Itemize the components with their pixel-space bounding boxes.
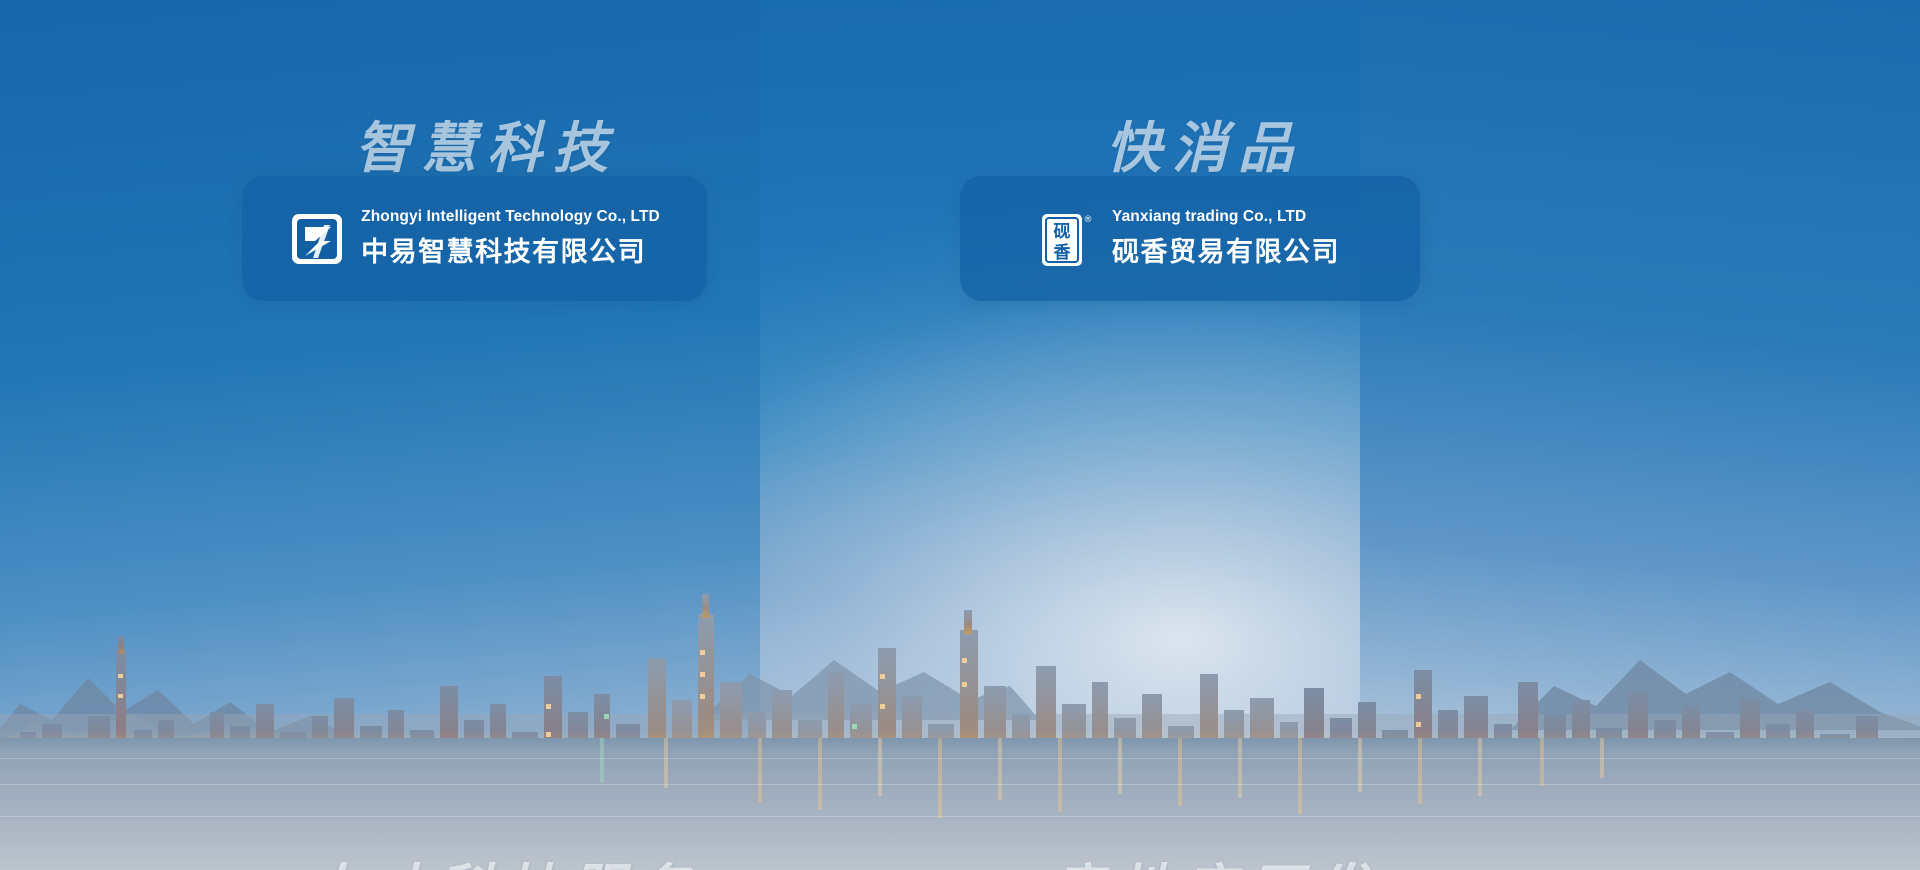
company-name-cn-2: 砚香贸易有限公司	[1112, 230, 1340, 269]
svg-text:砚: 砚	[1054, 222, 1071, 242]
zhongyi-logo-icon	[289, 211, 345, 267]
company-name-cn-1: 中易智慧科技有限公司	[361, 230, 660, 269]
svg-text:香: 香	[1054, 243, 1071, 263]
company-name-en-1: Zhongyi Intelligent Technology Co., LTD	[361, 208, 660, 226]
segment-heading-1: 智慧科技	[355, 103, 619, 183]
company-card-2[interactable]: 砚 香 ® Yanxiang trading Co., LTD 砚香贸易有限公司	[960, 176, 1420, 301]
segment-人才科技服务: 人才科技服务 NY Any technology development Co.…	[0, 435, 960, 870]
segment-房地产开发: 房地产开发 Yanxiang real estate development C…	[960, 435, 1920, 870]
segments-grid: 智慧科技 Zhongyi Intelligent Technology Co.,…	[0, 0, 1920, 870]
company-card-1[interactable]: Zhongyi Intelligent Technology Co., LTD …	[242, 176, 707, 301]
company-name-en-2: Yanxiang trading Co., LTD	[1112, 208, 1340, 226]
segment-heading-2: 快消品	[1106, 103, 1304, 183]
svg-text:®: ®	[1084, 215, 1093, 225]
yanxiang-seal-logo-icon: 砚 香 ®	[1040, 211, 1096, 267]
segment-快消品: 快消品 砚 香 ® Yanxiang trading Co., LTD 砚香贸易…	[960, 0, 1920, 435]
segment-heading-4: 房地产开发	[1050, 845, 1380, 870]
segment-heading-3: 人才科技服务	[305, 845, 701, 870]
segment-智慧科技: 智慧科技 Zhongyi Intelligent Technology Co.,…	[0, 0, 960, 435]
